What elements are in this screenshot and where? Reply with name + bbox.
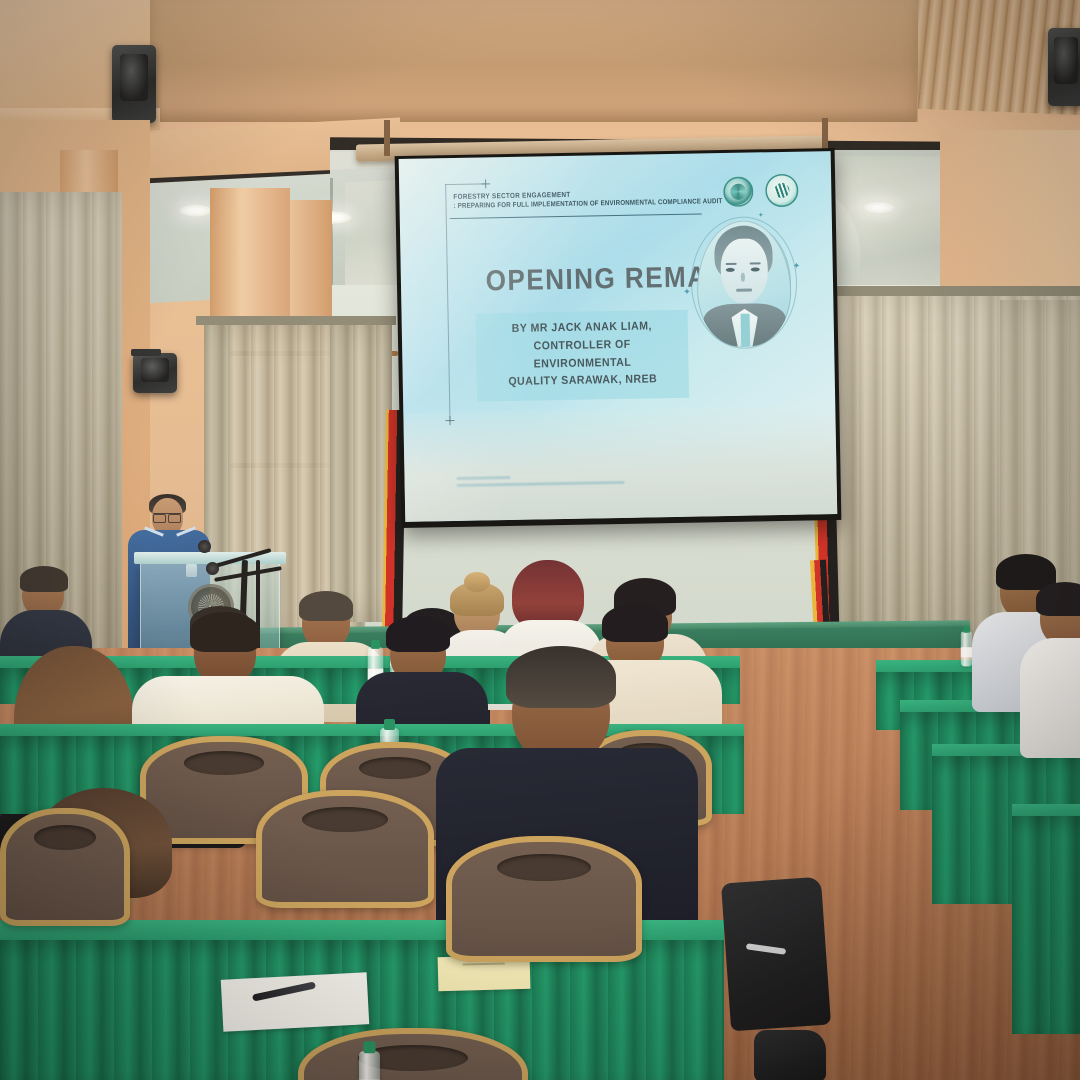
- downlight-1: [179, 204, 213, 217]
- presenter-glasses: [153, 513, 181, 520]
- chair-front-far-left: [0, 808, 130, 926]
- curtain-rail-left: [196, 316, 396, 325]
- portrait-nose: [741, 272, 745, 281]
- hair: [1036, 582, 1080, 616]
- table-right-4: [1012, 804, 1080, 1034]
- wall-speaker-column-left: [133, 353, 177, 393]
- backpack-on-floor: [721, 877, 831, 1032]
- hair: [602, 604, 668, 642]
- agency-logo-icon: [765, 174, 799, 208]
- wall-speaker-upper-right: [1048, 28, 1080, 106]
- shoe-on-floor: [754, 1030, 826, 1080]
- projected-slide: FORESTRY SECTOR ENGAGEMENT : PREPARING F…: [399, 151, 838, 522]
- projector-screen: FORESTRY SECTOR ENGAGEMENT : PREPARING F…: [395, 148, 842, 528]
- portrait-eye-left: [726, 267, 735, 271]
- portrait-eye-right: [750, 267, 759, 271]
- torso: [1020, 638, 1080, 758]
- attendee-far-right-white: [1032, 586, 1080, 726]
- portrait-mouth: [736, 289, 752, 292]
- hair: [299, 591, 353, 621]
- microphone-head-1: [198, 540, 211, 553]
- paper-sheet: [221, 972, 370, 1032]
- curtain-rail-right: [836, 286, 1080, 296]
- portrait-sparkle-left: ✦: [683, 288, 691, 297]
- chair-handle-slot: [302, 807, 387, 833]
- hair: [190, 612, 260, 652]
- downlight-3: [862, 201, 896, 214]
- portrait-brow-right: [749, 262, 760, 264]
- hair: [506, 646, 616, 708]
- speaker-portrait-illustration: ✦ ✦ ✦: [696, 220, 792, 348]
- hair-bun: [464, 572, 490, 592]
- portrait-brow-left: [726, 262, 737, 264]
- hair: [20, 566, 68, 592]
- speaker-bracket-left: [131, 349, 161, 356]
- chair-handle-slot: [184, 751, 265, 775]
- screen-glare: [399, 151, 685, 522]
- hair: [386, 616, 450, 652]
- table-skirt: [1012, 816, 1080, 1034]
- ceiling-shading: [148, 0, 918, 122]
- portrait-tie: [741, 314, 750, 347]
- chair-bottom-center: [298, 1028, 528, 1080]
- portrait-sparkle-top: ✦: [758, 212, 764, 219]
- water-bottle-right: [961, 632, 972, 667]
- chair-handle-slot: [497, 854, 591, 882]
- wall-speaker-upper-left: [112, 45, 156, 123]
- nreb-logo-icon: [723, 176, 754, 207]
- screen-bracket-left: [384, 120, 390, 156]
- chair-front-left: [256, 790, 434, 908]
- chair-front-center: [446, 836, 642, 962]
- chair-handle-slot: [359, 757, 431, 780]
- microphone-head-2: [206, 562, 219, 575]
- conference-hall-photo: FORESTRY SECTOR ENGAGEMENT : PREPARING F…: [0, 0, 1080, 1080]
- water-bottle-front: [359, 1051, 380, 1080]
- portrait-sparkle-right: ✦: [793, 262, 801, 271]
